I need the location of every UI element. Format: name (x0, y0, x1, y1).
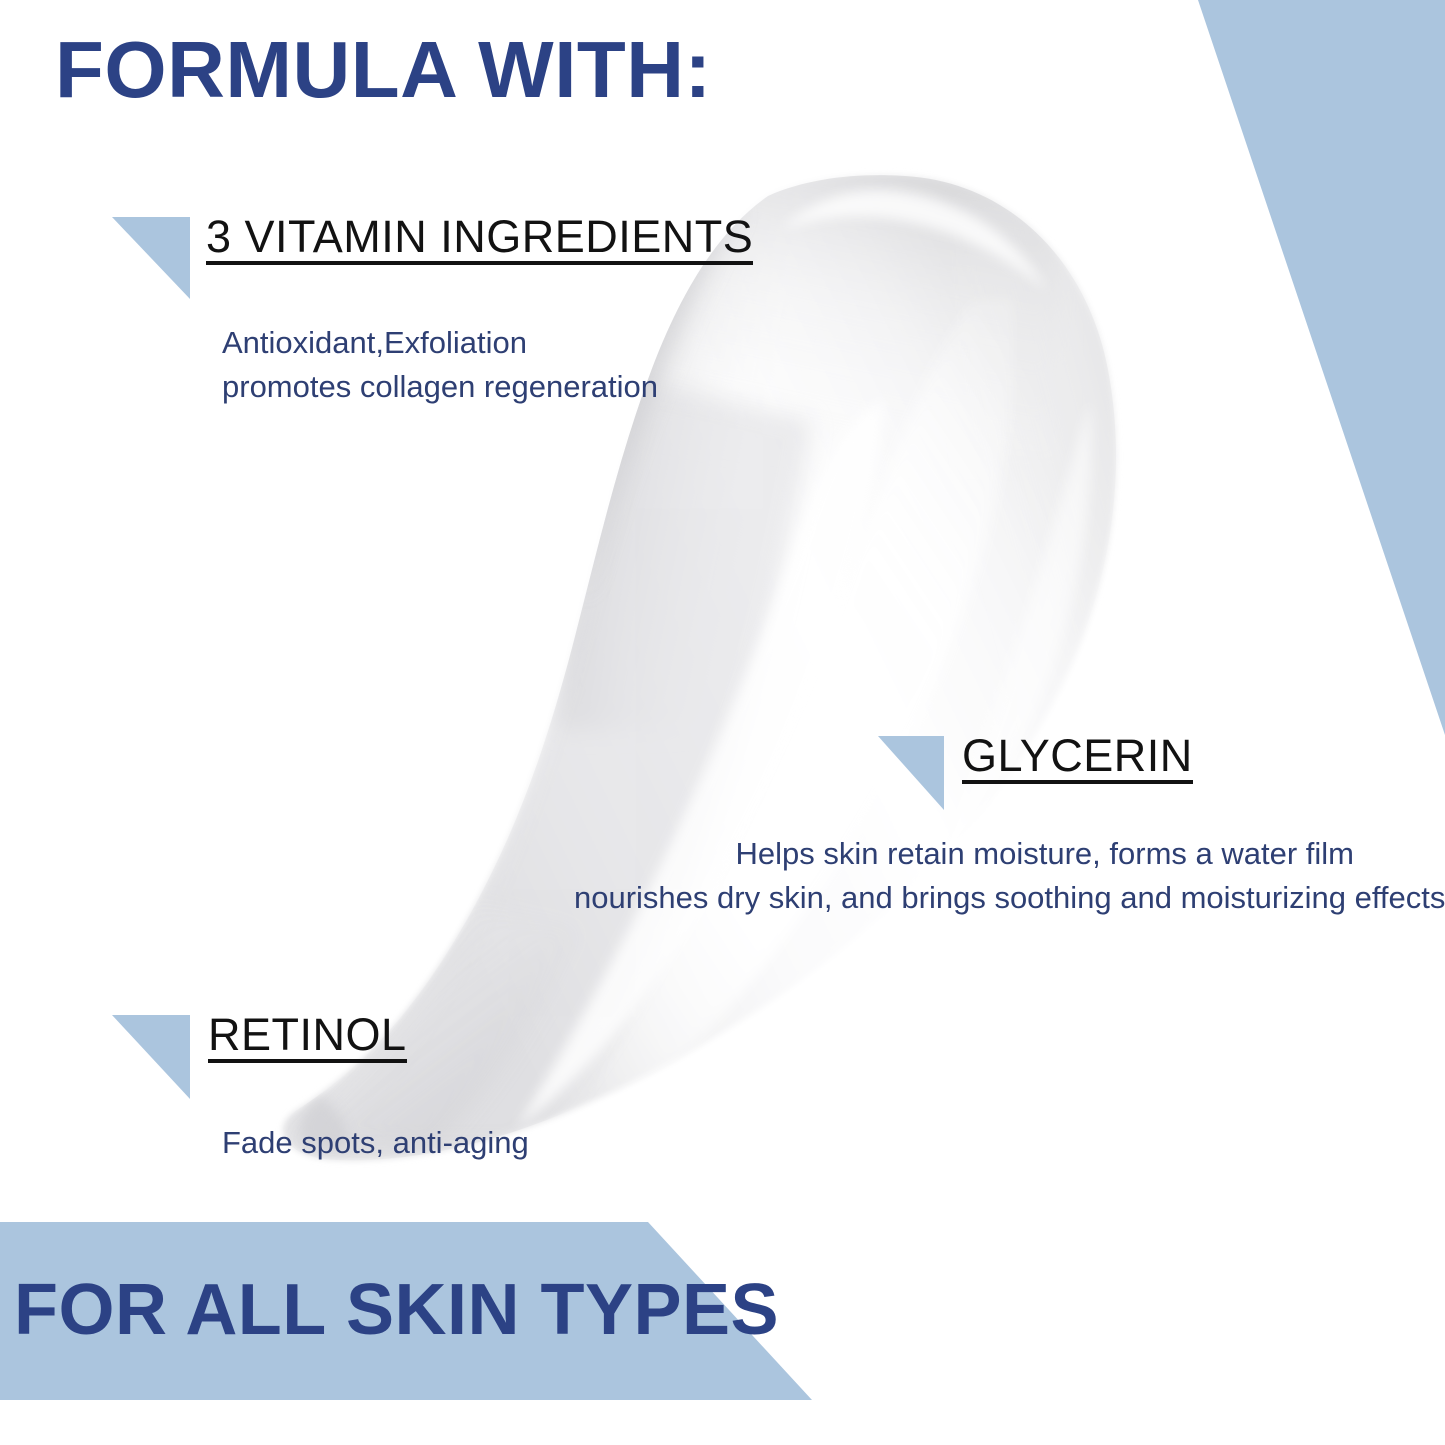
bullet-triangle-icon (878, 736, 944, 810)
description-line: Antioxidant,Exfoliation (222, 321, 753, 365)
description-line: promotes collagen regeneration (222, 365, 753, 409)
ingredient-title-glycerin: GLYCERIN (962, 733, 1193, 784)
ingredient-heading-row: RETINOL (112, 1012, 529, 1099)
bullet-triangle-icon (112, 217, 190, 299)
description-line: Fade spots, anti-aging (222, 1121, 529, 1165)
ingredient-description-retinol: Fade spots, anti-aging (222, 1121, 529, 1165)
ingredient-block-vitamin: 3 VITAMIN INGREDIENTS Antioxidant,Exfoli… (112, 214, 753, 409)
description-line: Helps skin retain moisture, forms a wate… (574, 832, 1354, 876)
ingredient-description-glycerin: Helps skin retain moisture, forms a wate… (574, 832, 1354, 920)
ingredient-block-retinol: RETINOL Fade spots, anti-aging (112, 1012, 529, 1165)
banner-label-all-skin-types: FOR ALL SKIN TYPES (14, 1274, 779, 1346)
infographic-canvas: FORMULA WITH: 3 VITAMIN INGREDIENTS Anti… (0, 0, 1445, 1445)
ingredient-description-vitamin: Antioxidant,Exfoliation promotes collage… (222, 321, 753, 409)
bullet-triangle-icon (112, 1015, 190, 1099)
page-title: FORMULA WITH: (55, 26, 712, 114)
ingredient-title-vitamin: 3 VITAMIN INGREDIENTS (206, 214, 753, 265)
description-line: nourishes dry skin, and brings soothing … (574, 876, 1354, 920)
ingredient-heading-row: GLYCERIN (878, 733, 1354, 810)
ingredient-block-glycerin: GLYCERIN Helps skin retain moisture, for… (574, 733, 1354, 920)
ingredient-title-retinol: RETINOL (208, 1012, 407, 1063)
ingredient-heading-row: 3 VITAMIN INGREDIENTS (112, 214, 753, 299)
